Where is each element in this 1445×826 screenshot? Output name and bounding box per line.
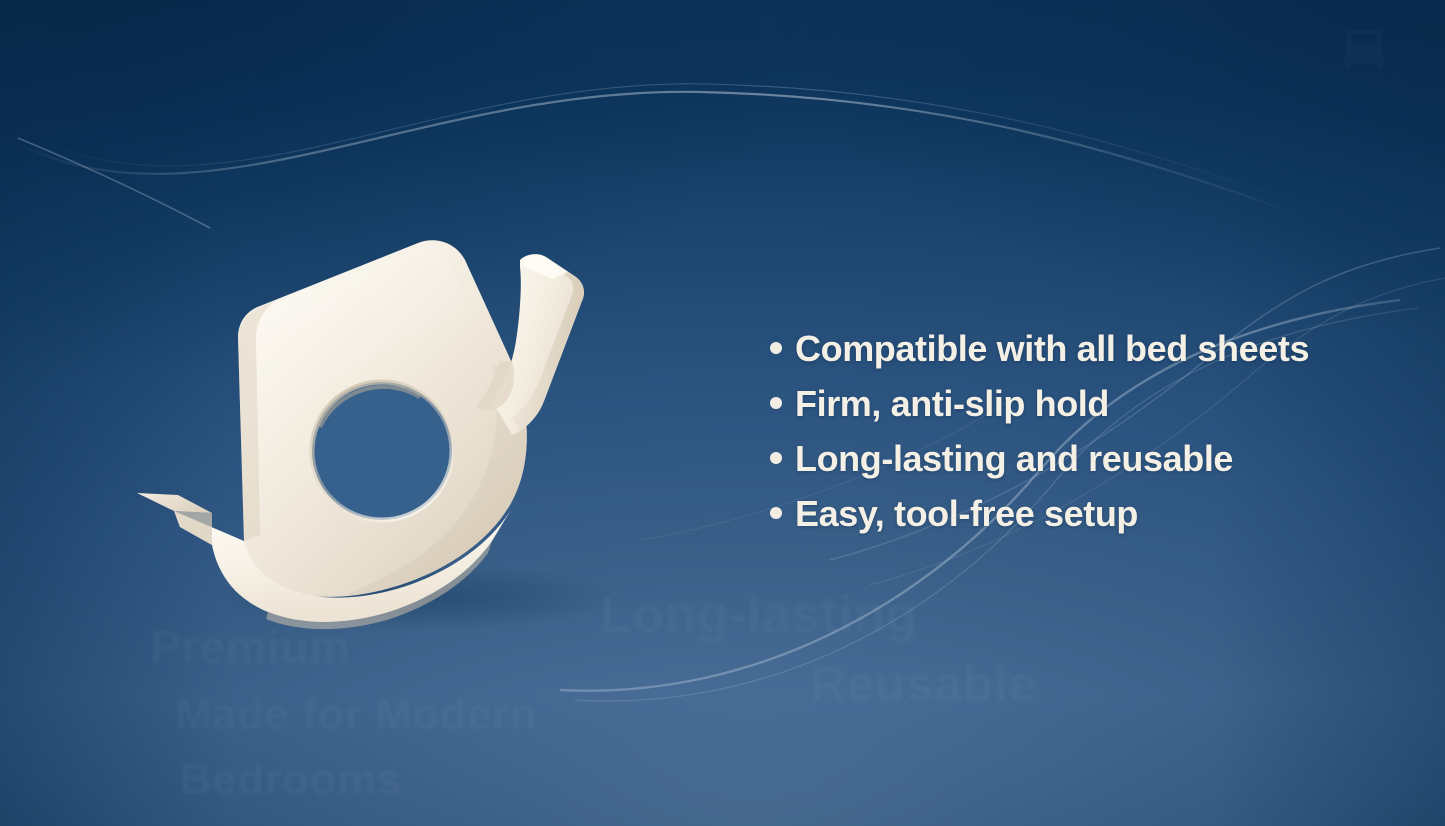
product-feature-slide: Long-lasting Reusable Premium Made for M… [0,0,1445,826]
background-vignette [0,0,1445,826]
